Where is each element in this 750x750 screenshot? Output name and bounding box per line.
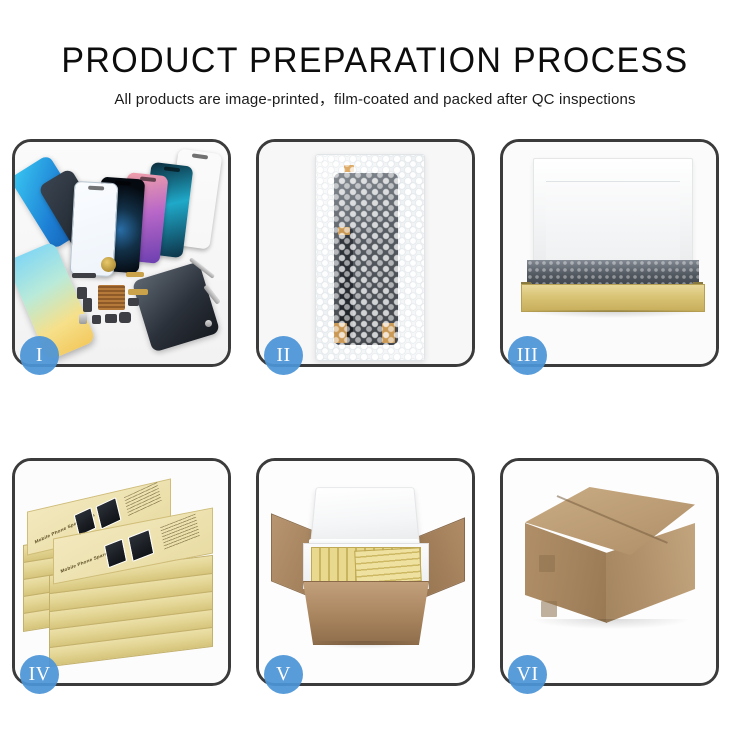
step-image-2 bbox=[259, 142, 472, 364]
foam-lid-graphic bbox=[310, 487, 420, 546]
page-title: PRODUCT PREPARATION PROCESS bbox=[11, 40, 739, 82]
notch-icon bbox=[164, 166, 180, 171]
step-image-3 bbox=[503, 142, 716, 364]
sealed-carton-scene bbox=[503, 461, 716, 683]
step-panel-2: II bbox=[256, 139, 475, 367]
notch-icon bbox=[115, 181, 131, 186]
tape-strip-graphic bbox=[344, 165, 354, 172]
flex-cable-part-graphic bbox=[126, 272, 144, 277]
box-phone-image bbox=[128, 529, 155, 562]
step-badge-4: IV bbox=[20, 655, 59, 694]
step-badge-2: II bbox=[264, 336, 303, 375]
ribbon-part-graphic bbox=[83, 298, 92, 312]
box-spec-lines bbox=[160, 514, 200, 550]
step-panel-4: Mobile Phone Spare Parts Mobile Phone Sp… bbox=[12, 458, 231, 686]
box-phone-image bbox=[95, 497, 121, 530]
notch-icon bbox=[88, 186, 104, 190]
bubble-wrap-scene bbox=[259, 142, 472, 364]
inner-box-scene bbox=[503, 142, 716, 364]
antenna-part-graphic bbox=[128, 289, 148, 295]
earpiece-part-graphic bbox=[119, 312, 131, 323]
drop-shadow bbox=[309, 641, 421, 649]
tape-strip-graphic bbox=[334, 323, 347, 343]
button-part-graphic bbox=[92, 315, 101, 324]
phone-parts-scene bbox=[15, 142, 228, 364]
carton-packing-scene bbox=[259, 461, 472, 683]
step-badge-3: III bbox=[508, 336, 547, 375]
page-subtitle: All products are image-printed，film-coat… bbox=[0, 89, 750, 111]
speaker-part-graphic bbox=[101, 257, 116, 272]
step-image-1 bbox=[15, 142, 228, 364]
drop-shadow bbox=[525, 310, 701, 318]
box-stack-scene: Mobile Phone Spare Parts Mobile Phone Sp… bbox=[15, 461, 228, 683]
step-panel-1: I bbox=[12, 139, 231, 367]
step-image-5 bbox=[259, 461, 472, 683]
bubble-wrap-bag-graphic bbox=[315, 154, 425, 361]
carton-front-graphic bbox=[303, 581, 429, 645]
step-panel-6: VI bbox=[500, 458, 719, 686]
vibrator-part-graphic bbox=[128, 298, 139, 306]
tape-strip-graphic bbox=[382, 323, 395, 343]
notch-icon bbox=[192, 153, 208, 159]
foam-lid-graphic bbox=[533, 158, 693, 270]
drop-shadow bbox=[533, 619, 689, 629]
carton-tape-graphic bbox=[541, 601, 557, 617]
foam-lid-inner-graphic bbox=[546, 181, 680, 269]
packed-boxes-graphic bbox=[354, 547, 422, 584]
box-spec-lines bbox=[124, 482, 162, 518]
sim-tray-part-graphic bbox=[105, 314, 117, 323]
tape-strip-graphic bbox=[338, 227, 350, 235]
step-image-6 bbox=[503, 461, 716, 683]
shield-plate-part-graphic bbox=[98, 285, 125, 310]
wrapped-flex-cable-graphic bbox=[340, 229, 353, 337]
step-panel-5: V bbox=[256, 458, 475, 686]
page-header: PRODUCT PREPARATION PROCESS All products… bbox=[0, 0, 750, 111]
step-badge-5: V bbox=[264, 655, 303, 694]
step-badge-1: I bbox=[20, 336, 59, 375]
step-panel-3: III bbox=[500, 139, 719, 367]
kraft-box-front-graphic bbox=[521, 284, 705, 312]
screw-small-graphic bbox=[205, 320, 212, 327]
screw-part-graphic bbox=[79, 314, 87, 324]
process-steps-grid: I II bbox=[12, 139, 738, 686]
step-badge-6: VI bbox=[508, 655, 547, 694]
connector-part-graphic bbox=[72, 273, 96, 278]
box-phone-image bbox=[104, 538, 127, 568]
carton-tape-graphic bbox=[539, 555, 555, 572]
step-image-4: Mobile Phone Spare Parts Mobile Phone Sp… bbox=[15, 461, 228, 683]
